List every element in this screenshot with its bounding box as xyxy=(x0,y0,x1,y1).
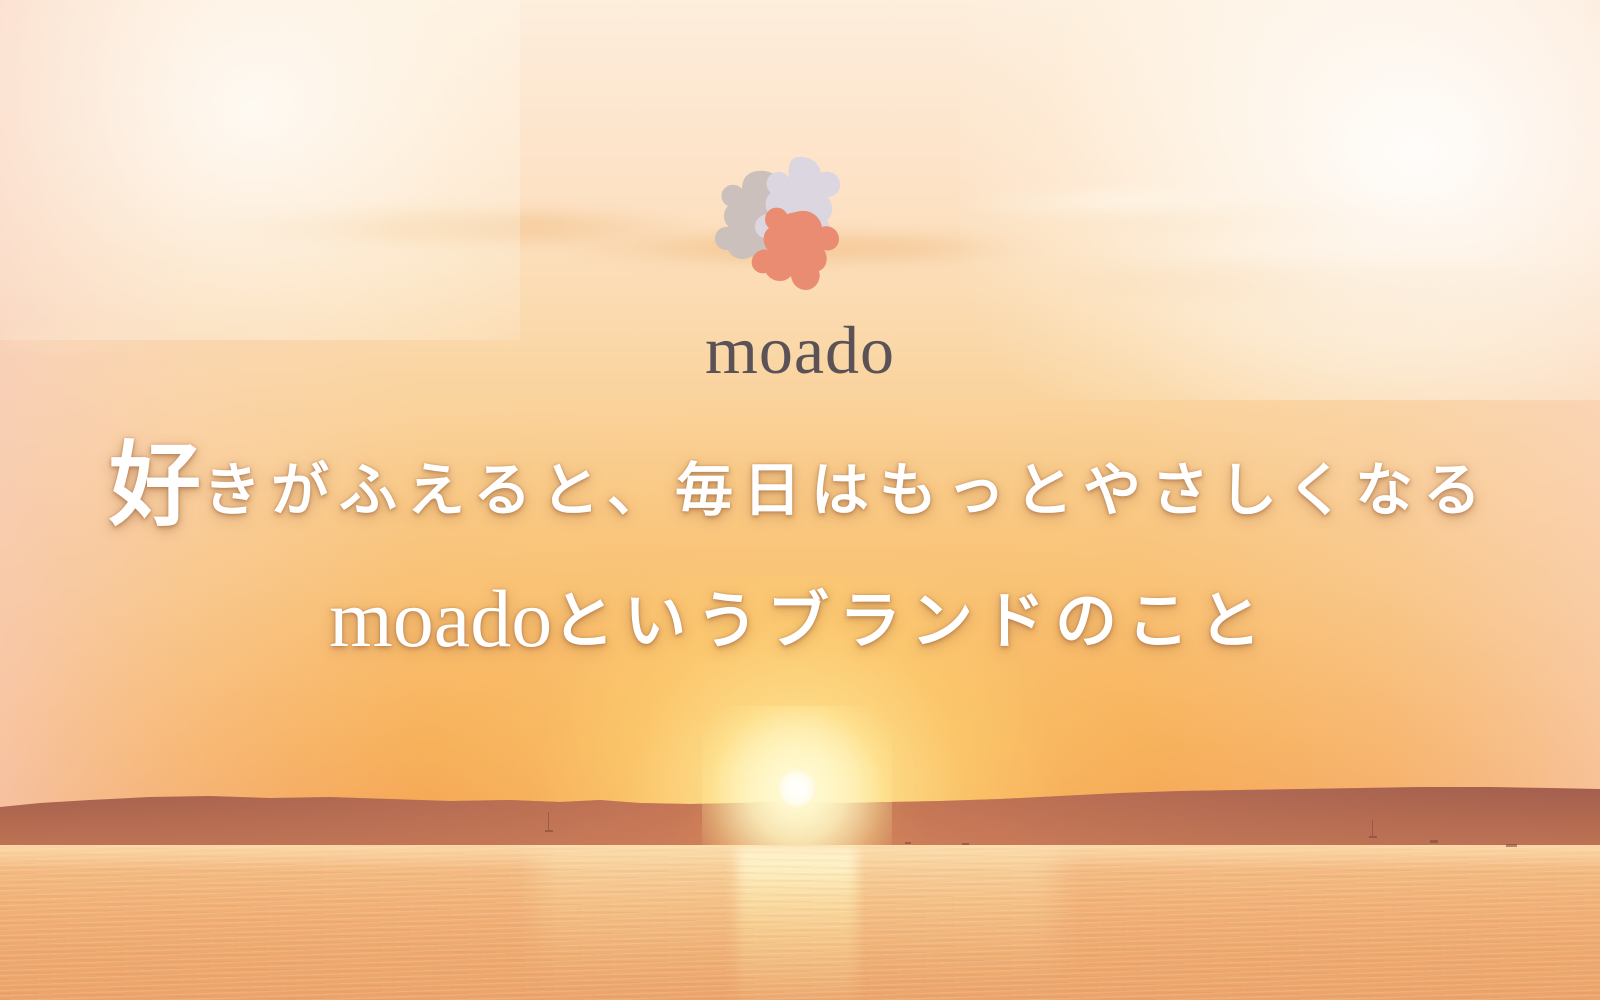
hero-banner: moado 好きがふえると、毎日はもっとやさしくなる moadoというブランドの… xyxy=(0,0,1600,1000)
sailboat-hull xyxy=(962,843,969,845)
headline-kanji-emphasis: 好 xyxy=(109,435,203,537)
sailboat-hull xyxy=(1506,844,1517,847)
sailboat-hull xyxy=(905,842,911,844)
sailboat-hull xyxy=(545,830,553,832)
headline-line-2: moadoというブランドのこと xyxy=(0,567,1600,674)
sailboat-mast xyxy=(548,812,549,830)
sailboat-hull xyxy=(1369,836,1377,838)
sky-glow-top-left xyxy=(0,0,520,340)
headline-line-1-text: きがふえると、毎日はもっとやさしくなる xyxy=(203,458,1491,523)
brand-wordmark: moado xyxy=(0,316,1600,384)
headline: 好きがふえると、毎日はもっとやさしくなる moadoというブランドのこと xyxy=(0,440,1600,674)
sailboat-hull xyxy=(1430,840,1438,843)
headline-brand-name: moado xyxy=(329,573,552,664)
sailboat-mast xyxy=(1372,820,1373,836)
water xyxy=(0,845,1600,1000)
headline-line-1: 好きがふえると、毎日はもっとやさしくなる xyxy=(0,440,1600,537)
headline-line-2-text: というブランドのこと xyxy=(552,587,1271,656)
brand-logo-mark xyxy=(690,150,870,310)
water-haze xyxy=(0,845,1600,871)
sun-icon xyxy=(777,770,817,810)
